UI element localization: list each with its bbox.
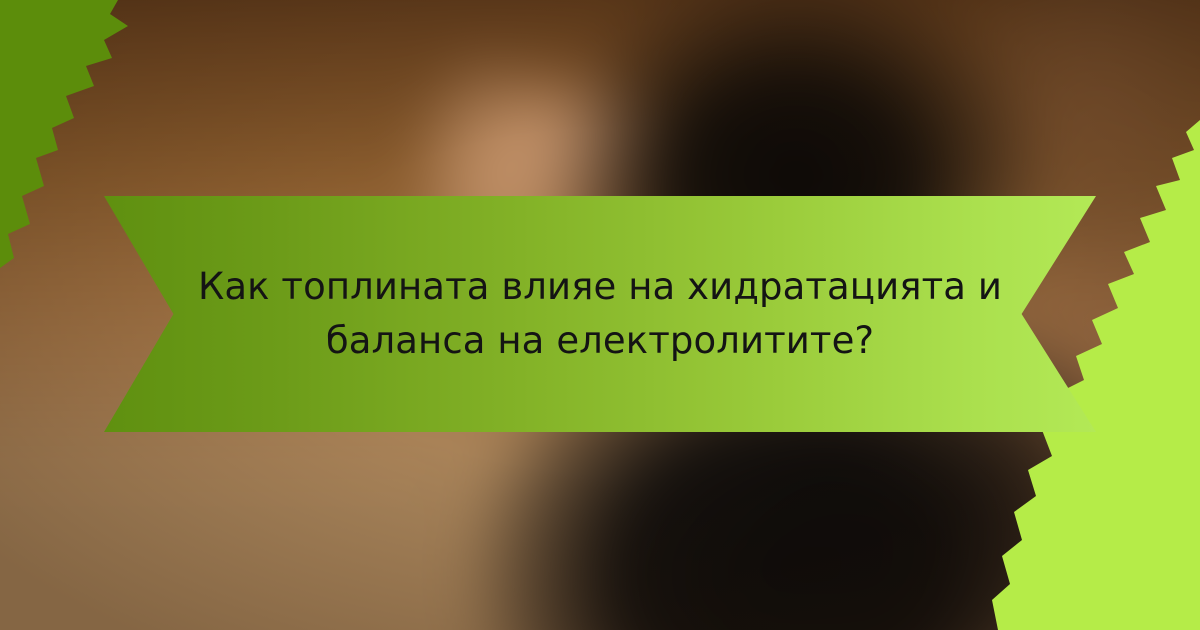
title-line-1: Как топлината влияе на хидратацията и [198,260,1002,314]
banner-title: Как топлината влияе на хидратацията и ба… [104,196,1096,432]
title-line-2: баланса на електролитите? [326,314,874,368]
social-card: Как топлината влияе на хидратацията и ба… [0,0,1200,630]
title-banner: Как топлината влияе на хидратацията и ба… [104,196,1096,432]
